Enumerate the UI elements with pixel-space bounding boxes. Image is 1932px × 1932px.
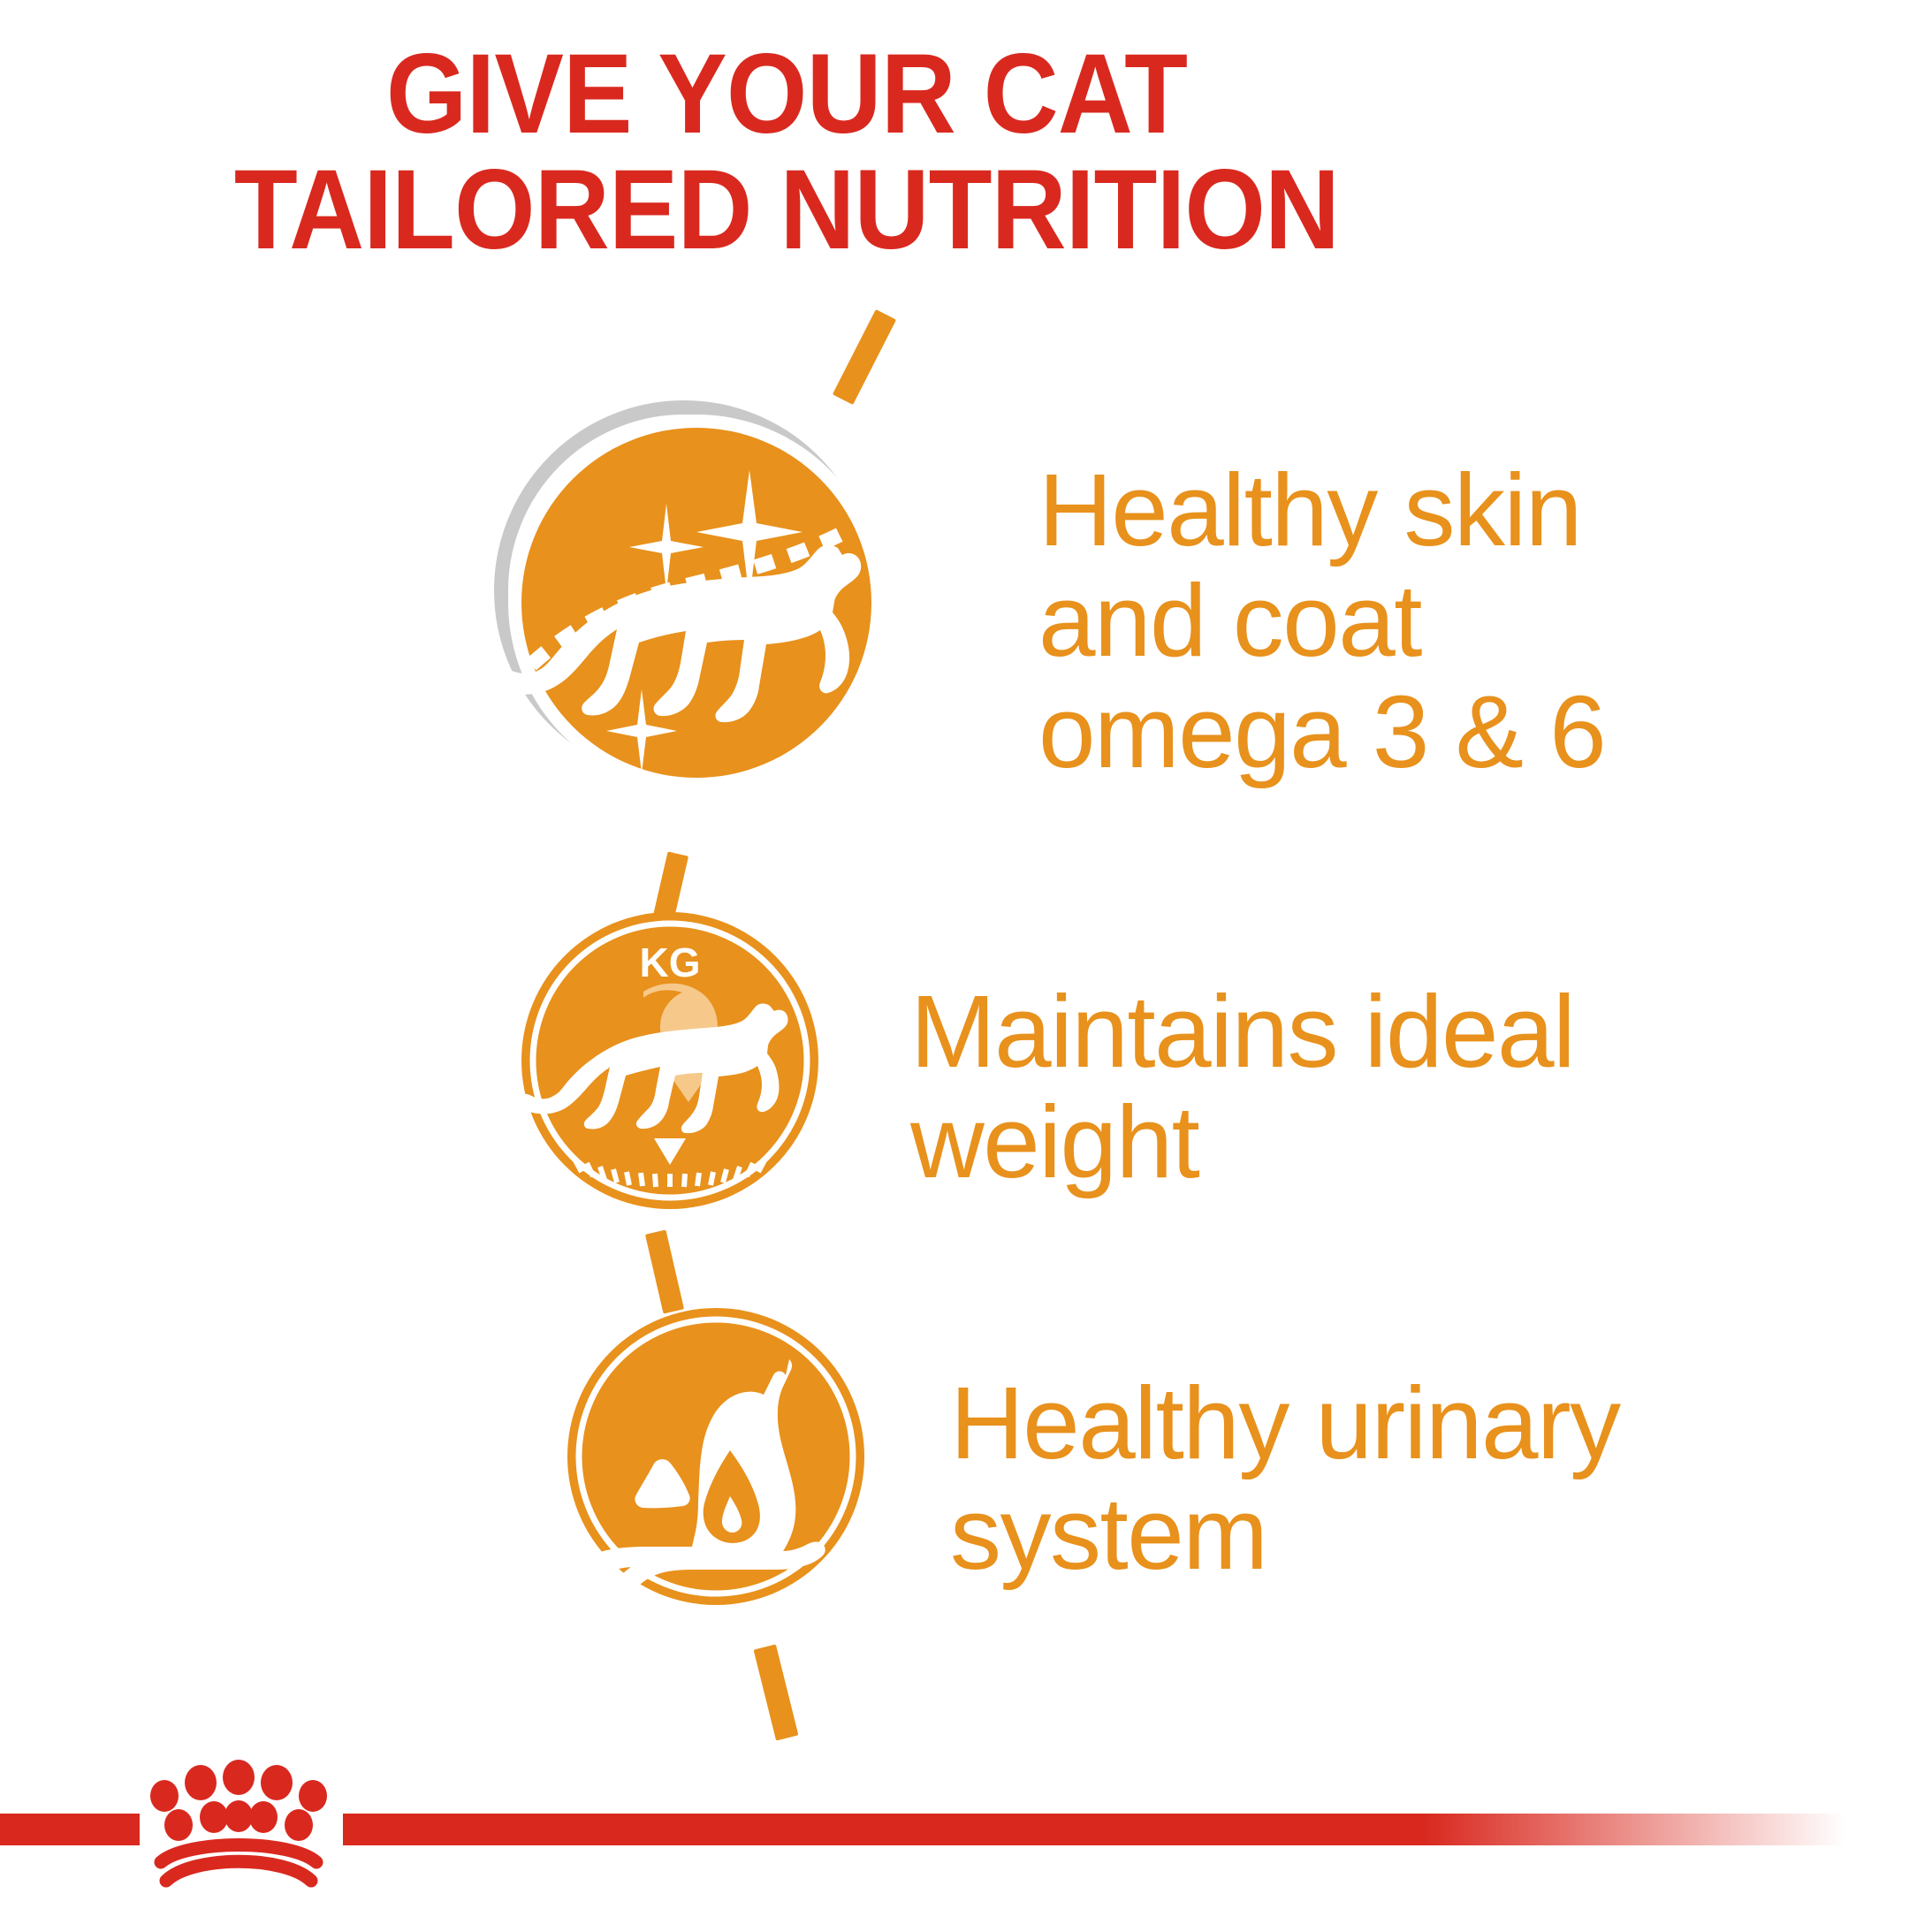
brand-bar-right bbox=[343, 1814, 1845, 1845]
brand-bar-left bbox=[0, 1814, 140, 1845]
poster-canvas: GIVE YOUR CAT TAILORED NUTRITION Healthy… bbox=[0, 0, 1932, 1932]
kg-label: KG bbox=[640, 939, 701, 985]
feature-icon-healthy-skin-and-coat bbox=[491, 399, 898, 806]
dashed-connector-bottom-icon bbox=[754, 1644, 799, 1740]
feature-icon-healthy-urinary-system bbox=[566, 1306, 866, 1607]
cat-walking-sparkles-icon bbox=[491, 399, 898, 806]
page-title: GIVE YOUR CAT TAILORED NUTRITION bbox=[63, 37, 1510, 268]
royal-canin-crown-icon bbox=[133, 1754, 345, 1896]
dashed-connector-top-icon bbox=[833, 309, 896, 405]
feature-label-healthy-urinary-system: Healthy urinary system bbox=[950, 1368, 1905, 1590]
cat-sitting-water-drop-icon bbox=[566, 1306, 866, 1607]
dashed-connector-middle-lower-icon bbox=[645, 1229, 684, 1313]
cat-weight-scale-icon: KG bbox=[520, 910, 820, 1211]
crown-logo-svg bbox=[133, 1754, 345, 1896]
feature-label-maintains-ideal-weight: Maintains ideal weight bbox=[910, 977, 1865, 1198]
feature-label-healthy-skin-and-coat: Healthy skin and coat omega 3 & 6 bbox=[1038, 455, 1905, 787]
feature-icon-maintains-ideal-weight: KG bbox=[520, 910, 820, 1211]
